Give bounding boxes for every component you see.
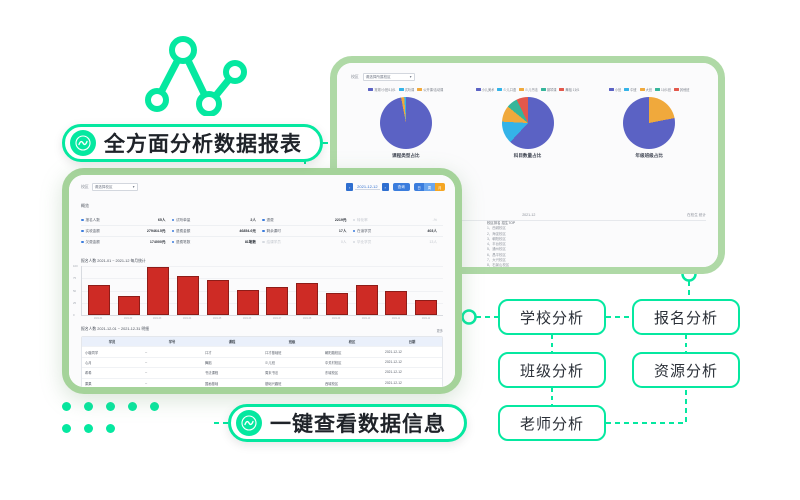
column-header: 班级 [262, 337, 322, 346]
table-row[interactable]: 小璇同学--口才口才基础班朝阳路校区2021-12-12 [82, 346, 442, 356]
x-tick-label: 2021-07 [267, 317, 287, 320]
bar [356, 285, 378, 315]
pie-graphic [380, 97, 432, 149]
region-select-value: 请选择校区 [95, 185, 113, 190]
stat-cell: 结课学员0人 [262, 240, 353, 245]
region-select[interactable]: 请选择校区 ▾ [92, 183, 138, 191]
column-header: 课程 [202, 337, 262, 346]
legend-item: 少儿书法 [519, 87, 538, 92]
column-header: 学员 [82, 337, 142, 346]
stat-cell: 退费笔数81笔数 [172, 240, 263, 245]
y-tick: 0 [73, 313, 75, 317]
bar [237, 290, 259, 315]
footer-right: 在校生 统计 [687, 213, 706, 218]
legend-item: 常规/小班/1对1 [368, 87, 395, 92]
stats-row: 报名人数65人 试听单量2人 退费2219元 转化率-% [81, 215, 443, 226]
top-card-toolbar: 校区 请选择所属校区 ▾ [351, 73, 415, 81]
table-cell: 东城校区 [322, 368, 382, 377]
chevron-down-icon: ▾ [410, 75, 412, 79]
tag-resource-analysis[interactable]: 资源分析 [632, 352, 740, 388]
chart-title: 报名人数 2021-01 ~ 2021-12 每月统计 [81, 259, 443, 264]
stats-row: 实收金额279464.5元 退费金额46854.6元 剩余课时17人 在读学员4… [81, 226, 443, 237]
table-cell: 2021-12-12 [382, 379, 442, 388]
stat-cell: 试听单量2人 [172, 218, 263, 223]
pie-graphic [502, 97, 554, 149]
table-cell: 口才 [202, 347, 262, 356]
table-row[interactable]: 心月--舞蹈少儿班中关村校区2021-12-12 [82, 357, 442, 367]
table-row[interactable]: 希希--书法课程周末书法东城校区2021-12-12 [82, 367, 442, 377]
bar [147, 267, 169, 315]
period-week[interactable]: 周 [424, 183, 434, 191]
more-link[interactable]: 更多 [437, 328, 443, 333]
pie-legend: 小班 中班 大班 1对1班 其他班 [588, 87, 710, 92]
table-cell: 少儿班 [262, 358, 322, 367]
wave-badge-icon [236, 410, 262, 436]
table-cell: 心月 [82, 358, 142, 367]
pie-title: 年级班级占比 [635, 153, 663, 159]
y-tick: 75 [73, 276, 76, 280]
bottom-card-toolbar: 校区 请选择校区 ▾ ‹ 2021-12-12 › 查询 日 周 月 [81, 183, 445, 191]
x-tick-label: 2021-04 [177, 317, 197, 320]
stat-cell: 欠费金额174000元 [81, 240, 172, 245]
footer-center: 2021-12 [522, 213, 535, 218]
x-axis-ticks: 2021-012021-022021-032021-042021-052021-… [81, 317, 443, 320]
tag-school-analysis[interactable]: 学校分析 [498, 299, 606, 335]
legend-item: 钢琴课 [541, 87, 557, 92]
bar [415, 300, 437, 315]
stat-cell: 剩余课时17人 [262, 229, 353, 234]
x-tick-label: 2021-08 [297, 317, 317, 320]
y-tick: 25 [73, 301, 76, 305]
column-header: 学号 [142, 337, 202, 346]
x-tick-label: 2021-10 [356, 317, 376, 320]
table-cell: 小璇同学 [82, 347, 142, 356]
x-tick-label: 2021-03 [148, 317, 168, 320]
bar [88, 285, 110, 315]
legend-item: 小班 [609, 87, 621, 92]
legend-item: 其他班 [674, 87, 690, 92]
legend-item: 试听课 [399, 87, 415, 92]
period-segmented-control[interactable]: 日 周 月 [414, 183, 445, 191]
legend-item: 公开课/活动课 [417, 87, 443, 92]
x-tick-label: 2021-02 [118, 317, 138, 320]
table-cell: 2021-12-12 [382, 358, 442, 367]
table-cell: 朝阳路校区 [322, 347, 382, 356]
table-cell: -- [142, 347, 202, 356]
region-select[interactable]: 请选择所属校区 ▾ [363, 73, 415, 81]
legend-item: 小儿美术 [476, 87, 495, 92]
table-cell: -- [142, 358, 202, 367]
legend-item: 中班 [624, 87, 636, 92]
callout-bottom: 一键查看数据信息 [228, 404, 467, 442]
stat-cell: 退费金额46854.6元 [172, 229, 263, 234]
x-tick-label: 2021-06 [237, 317, 257, 320]
legend-item: 舞蹈 1对1 [559, 87, 579, 92]
detail-table-section: 报名人数 2021-12-01 ~ 2021-12-31 明细 更多 学员 学号… [81, 327, 443, 389]
bar [207, 280, 229, 315]
bar [385, 291, 407, 316]
stat-cell: 实收金额279464.5元 [81, 229, 172, 234]
bar-series [82, 266, 443, 315]
x-tick-label: 2021-12 [416, 317, 436, 320]
poster-stage: 校区 请选择所属校区 ▾ 常规/小班/1对1 试听课 公开课/活动课 课程类型占… [0, 0, 800, 500]
chart-plot-area: 100 75 50 25 0 [81, 266, 443, 316]
table-cell: 国画基础 [202, 379, 262, 388]
table-cell: 2021-12-12 [382, 368, 442, 377]
pie-graphic [623, 97, 675, 149]
region-label: 校区 [351, 74, 359, 80]
stat-cell: 在读学员403人 [353, 229, 444, 234]
x-tick-label: 2021-01 [88, 317, 108, 320]
callout-bottom-label: 一键查看数据信息 [270, 408, 446, 438]
table-cell: 舞蹈 [202, 358, 262, 367]
tag-class-analysis[interactable]: 班级分析 [498, 352, 606, 388]
x-tick-label: 2021-05 [207, 317, 227, 320]
period-day[interactable]: 日 [414, 183, 424, 191]
date-value[interactable]: 2021-12-12 [355, 184, 379, 190]
pie-chart-grade: 小班 中班 大班 1对1班 其他班 年级班级占比 [588, 87, 710, 205]
pie-title: 科目数量占比 [514, 153, 542, 159]
table-body: 小璇同学--口才口才基础班朝阳路校区2021-12-12心月--舞蹈少儿班中关村… [82, 346, 442, 388]
legend-item: 1对1班 [655, 87, 671, 92]
pie-legend: 常规/小班/1对1 试听课 公开课/活动课 [345, 87, 467, 92]
table-cell: 西城校区 [322, 379, 382, 388]
region-label: 校区 [81, 184, 89, 190]
stats-row: 欠费金额174000元 退费笔数81笔数 结课学员0人 毕业学员13人 [81, 237, 443, 247]
y-tick: 50 [73, 289, 76, 293]
overview-heading: 概览 [81, 203, 89, 209]
chevron-down-icon: ▾ [133, 185, 135, 189]
table-cell: 周末书法 [262, 368, 322, 377]
prev-date-button[interactable]: ‹ [346, 183, 353, 191]
column-header: 日期 [382, 337, 442, 346]
monthly-bar-chart: 报名人数 2021-01 ~ 2021-12 每月统计 100 75 50 25… [81, 259, 443, 321]
table-cell: 果果 [82, 379, 142, 388]
pie-legend: 小儿美术 少儿口语 少儿书法 钢琴课 舞蹈 1对1 [467, 87, 589, 92]
list-item: 9、房山校区 [487, 268, 515, 273]
region-select-value: 请选择所属校区 [366, 75, 391, 80]
table-cell: -- [142, 379, 202, 388]
stats-grid: 报名人数65人 试听单量2人 退费2219元 转化率-% 实收金额279464.… [81, 215, 443, 247]
stat-cell: 转化率-% [353, 218, 444, 223]
legend-item: 少儿口语 [497, 87, 516, 92]
table-row[interactable]: 果果--国画基础基础兴趣班西城校区2021-12-12 [82, 378, 442, 388]
x-tick-label: 2021-11 [386, 317, 406, 320]
list-item: 8、石景山校区 [487, 263, 515, 268]
table-cell: 口才基础班 [262, 347, 322, 356]
stats-dashboard-card: 校区 请选择校区 ▾ ‹ 2021-12-12 › 查询 日 周 月 [62, 168, 462, 394]
ranking-list: 校区排名 招生TOP 1、西城校区 2、海淀校区 3、朝阳校区 4、丰台校区 5… [487, 221, 515, 274]
table-title: 报名人数 2021-12-01 ~ 2021-12-31 明细 [81, 327, 149, 332]
legend-item: 大班 [640, 87, 652, 92]
stat-cell: 毕业学员13人 [353, 240, 444, 245]
stat-cell: 退费2219元 [262, 218, 353, 223]
bar [118, 296, 140, 315]
search-button[interactable]: 查询 [393, 183, 410, 191]
pie-chart-subject: 小儿美术 少儿口语 少儿书法 钢琴课 舞蹈 1对1 科目数量占比 [467, 87, 589, 205]
table-header-row: 学员 学号 课程 班级 校区 日期 [82, 337, 442, 346]
tag-teacher-analysis[interactable]: 老师分析 [498, 405, 606, 441]
tag-enrollment-analysis[interactable]: 报名分析 [632, 299, 740, 335]
table-cell: 希希 [82, 368, 142, 377]
table-cell: 书法课程 [202, 368, 262, 377]
dot-grid-decoration [62, 402, 162, 444]
line-chart-node-icon [145, 28, 257, 116]
bar [266, 287, 288, 315]
detail-table: 学员 学号 课程 班级 校区 日期 小璇同学--口才口才基础班朝阳路校区2021… [81, 336, 443, 389]
stat-cell: 报名人数65人 [81, 218, 172, 223]
next-date-button[interactable]: › [382, 183, 389, 191]
date-picker[interactable]: ‹ 2021-12-12 › [346, 183, 388, 191]
table-cell: -- [142, 368, 202, 377]
y-tick: 100 [73, 264, 78, 268]
table-cell: 2021-12-12 [382, 347, 442, 356]
table-cell: 中关村校区 [322, 358, 382, 367]
table-cell: 基础兴趣班 [262, 379, 322, 388]
bar [296, 283, 318, 315]
column-header: 校区 [322, 337, 382, 346]
x-tick-label: 2021-09 [327, 317, 347, 320]
period-month[interactable]: 月 [435, 183, 445, 191]
callout-top: 全方面分析数据报表 [62, 124, 323, 162]
bar [326, 293, 348, 315]
callout-top-label: 全方面分析数据报表 [104, 128, 302, 158]
bar [177, 276, 199, 315]
pie-title: 课程类型占比 [392, 153, 420, 159]
wave-badge-icon [70, 130, 96, 156]
